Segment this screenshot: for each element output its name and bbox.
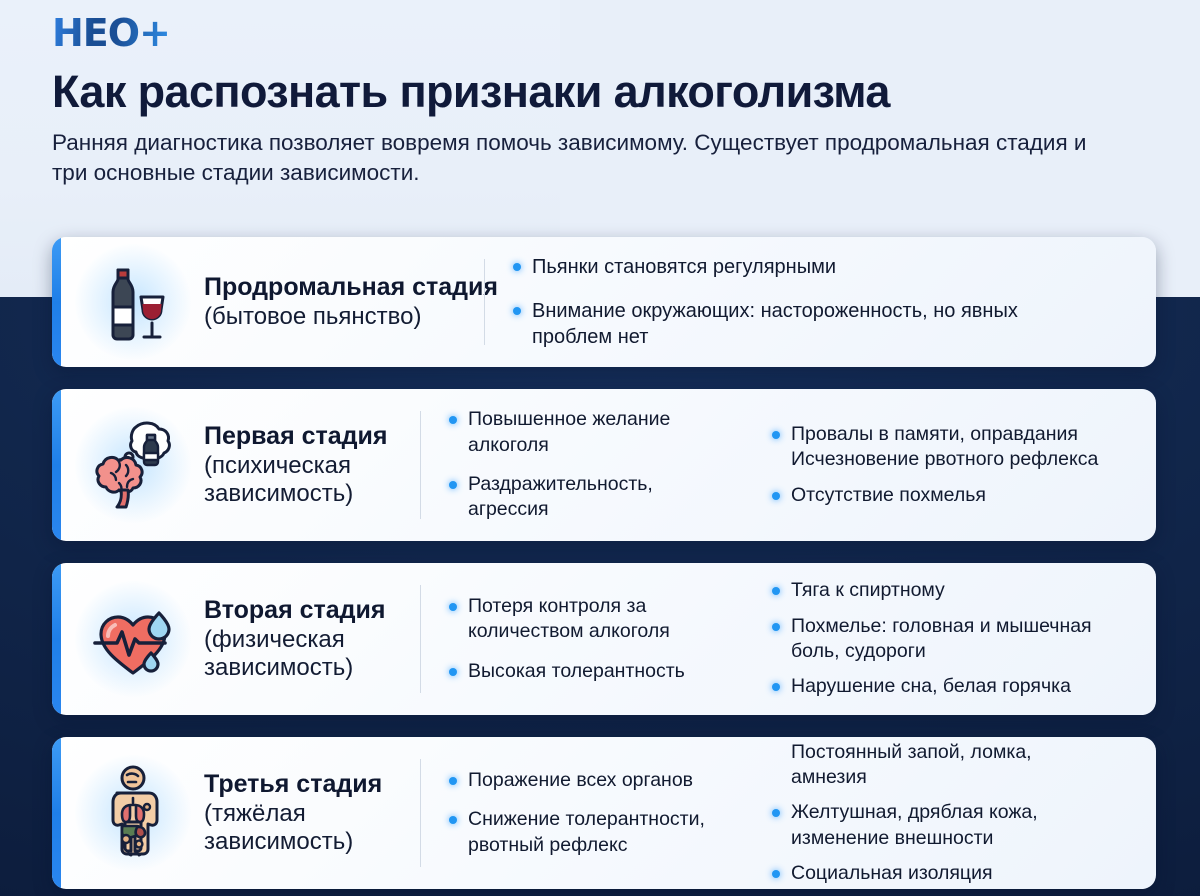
page-title: Как распознать признаки алкоголизма xyxy=(52,68,1162,116)
stage-card-prodromal: Продромальная стадия (бытовое пьянство) … xyxy=(52,237,1156,367)
stage-title-cell: Вторая стадия (физическая зависимость) xyxy=(204,563,420,715)
list-item: Тяга к спиртному xyxy=(770,578,1104,603)
wine-bottle-and-glass-icon xyxy=(81,250,185,354)
list-item: Желтушная, дряблая кожа, изменение внешн… xyxy=(770,800,1104,851)
list-item: Снижение толерантности, рвотный рефлекс xyxy=(447,807,732,858)
list-item: Пьянки становятся регулярными xyxy=(511,254,1026,280)
stage-title-cell: Первая стадия (психическая зависимость) xyxy=(204,389,420,541)
stage-name: Первая стадия xyxy=(204,422,402,451)
stage-icon-cell xyxy=(52,237,204,367)
stage-icon-cell xyxy=(52,737,204,889)
stage-symptom-column-b: Тяга к спиртному Похмелье: головная и мы… xyxy=(746,563,1118,715)
stage-symptom-column-a: Повышенное желание алкоголя Раздражитель… xyxy=(421,389,746,541)
stage-icon-cell xyxy=(52,389,204,541)
stage-card-first: Первая стадия (психическая зависимость) … xyxy=(52,389,1156,541)
stage-symptom-column-a: Потеря контроля за количеством алкоголя … xyxy=(421,563,746,715)
stage-card-second: Вторая стадия (физическая зависимость) П… xyxy=(52,563,1156,715)
header: НЕО+ Как распознать признаки алкоголизма… xyxy=(52,14,1162,188)
stage-subtitle: (физическая зависимость) xyxy=(204,626,402,682)
list-item: Отсутствие похмелья xyxy=(770,483,1104,508)
human-body-organs-icon xyxy=(81,761,185,865)
list-item: Нарушение сна, белая горячка xyxy=(770,674,1104,699)
stage-subtitle: (бытовое пьянство) xyxy=(204,303,466,331)
heart-with-pulse-and-drops-icon xyxy=(81,587,185,691)
stage-title-cell: Продромальная стадия (бытовое пьянство) xyxy=(204,237,484,367)
stage-symptom-column-a: Поражение всех органов Снижение толерант… xyxy=(421,737,746,889)
stage-name: Вторая стадия xyxy=(204,596,402,625)
list-item: Повышенное желание алкоголя xyxy=(447,407,732,458)
stage-subtitle: (тяжёлая зависимость) xyxy=(204,800,402,856)
list-item: Раздражительность, агрессия xyxy=(447,472,732,523)
stage-symptom-column-b: Провалы в памяти, оправдания Исчезновени… xyxy=(746,389,1118,541)
list-item: Постоянный запой, ломка, амнезия xyxy=(770,740,1104,791)
list-item: Провалы в памяти, оправдания Исчезновени… xyxy=(770,422,1104,473)
brain-with-bottle-thought-icon xyxy=(81,413,185,517)
stage-card-list: Продромальная стадия (бытовое пьянство) … xyxy=(52,237,1156,896)
stage-card-third: Третья стадия (тяжёлая зависимость) Пора… xyxy=(52,737,1156,889)
stage-title-cell: Третья стадия (тяжёлая зависимость) xyxy=(204,737,420,889)
list-item: Высокая толерантность xyxy=(447,659,732,684)
stage-icon-cell xyxy=(52,563,204,715)
stage-name: Продромальная стадия xyxy=(204,273,466,302)
list-item: Внимание окружающих: настороженность, но… xyxy=(511,298,1026,350)
stage-subtitle: (психическая зависимость) xyxy=(204,452,402,508)
list-item: Похмелье: головная и мышечная боль, судо… xyxy=(770,614,1104,665)
stage-symptom-column-a: Пьянки становятся регулярными Внимание о… xyxy=(485,237,1040,367)
stage-name: Третья стадия xyxy=(204,770,402,799)
stage-symptom-column-b: Постоянный запой, ломка, амнезия Желтушн… xyxy=(746,737,1118,889)
list-item: Поражение всех органов xyxy=(447,768,732,793)
list-item: Потеря контроля за количеством алкоголя xyxy=(447,594,732,645)
list-item: Социальная изоляция xyxy=(770,861,1104,886)
infographic-page: НЕО+ Как распознать признаки алкоголизма… xyxy=(0,0,1200,896)
brand-logo: НЕО+ xyxy=(52,14,170,52)
page-subtitle: Ранняя диагностика позволяет вовремя пом… xyxy=(52,128,1092,188)
